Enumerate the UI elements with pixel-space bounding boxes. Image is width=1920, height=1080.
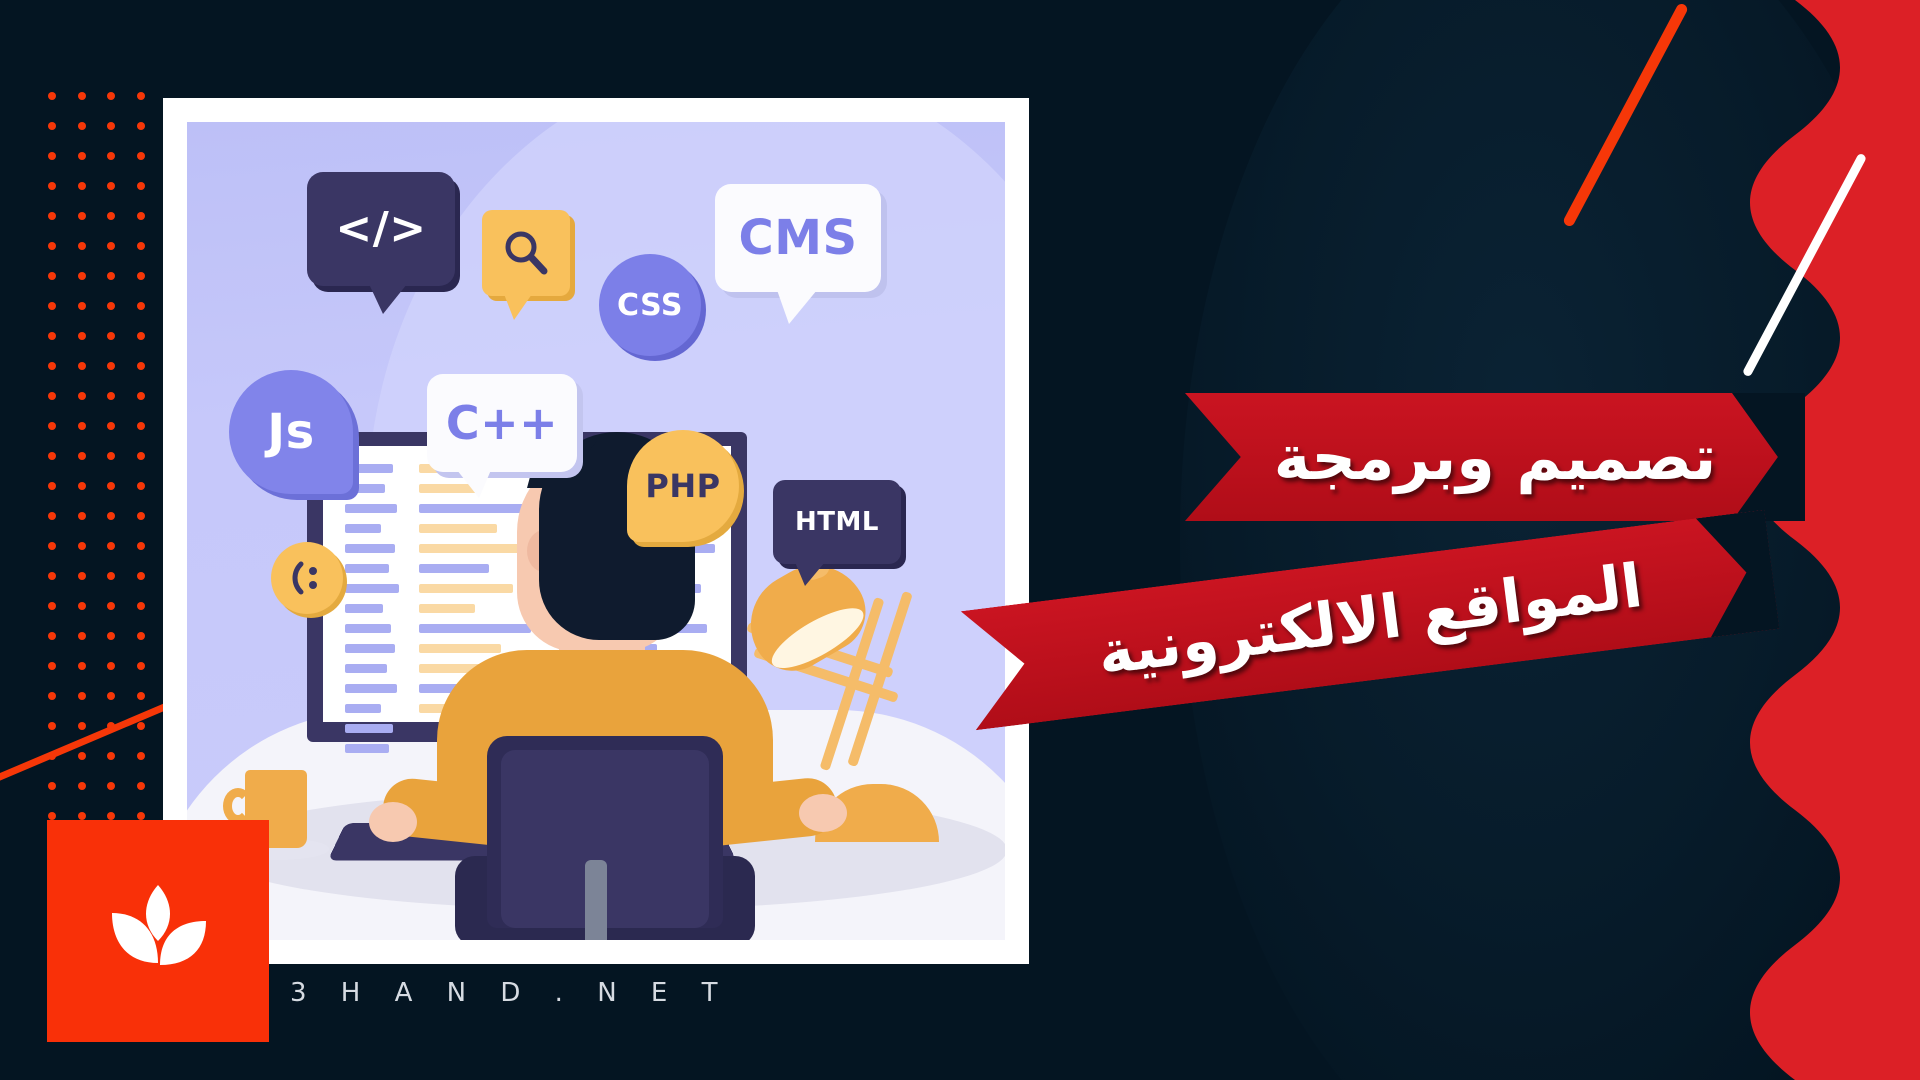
dot bbox=[78, 542, 86, 550]
dot bbox=[78, 572, 86, 580]
bubble-smiley bbox=[271, 542, 343, 614]
dot bbox=[137, 572, 145, 580]
dot bbox=[78, 122, 86, 130]
dot bbox=[107, 512, 115, 520]
dot bbox=[78, 332, 86, 340]
dot bbox=[137, 782, 145, 790]
dot bbox=[137, 752, 145, 760]
dot bbox=[137, 722, 145, 730]
dot bbox=[137, 422, 145, 430]
dot bbox=[137, 632, 145, 640]
dot bbox=[107, 242, 115, 250]
dot bbox=[78, 812, 86, 820]
dot bbox=[137, 452, 145, 460]
dot bbox=[78, 182, 86, 190]
cms-bubble-icon: CMS bbox=[738, 210, 857, 266]
dot bbox=[78, 92, 86, 100]
dot bbox=[107, 212, 115, 220]
dot bbox=[48, 572, 56, 580]
dot bbox=[78, 212, 86, 220]
dot bbox=[48, 392, 56, 400]
dot bbox=[48, 812, 56, 820]
dot bbox=[107, 572, 115, 580]
office-chair-post bbox=[585, 860, 607, 940]
code-lines-left bbox=[345, 464, 401, 764]
illustration-frame: </> CSS CMS Js C++ bbox=[163, 98, 1029, 964]
dot bbox=[107, 782, 115, 790]
dot bbox=[137, 212, 145, 220]
dot bbox=[48, 182, 56, 190]
dot bbox=[78, 392, 86, 400]
dot bbox=[137, 182, 145, 190]
javascript-badge-icon: Js bbox=[267, 404, 314, 460]
dot bbox=[137, 122, 145, 130]
dot bbox=[48, 122, 56, 130]
dot bbox=[107, 602, 115, 610]
brand-logo[interactable] bbox=[47, 820, 269, 1042]
bubble-html: HTML bbox=[773, 480, 901, 564]
bubble-code: </> bbox=[307, 172, 455, 286]
css-badge-icon: CSS bbox=[617, 288, 683, 323]
dot bbox=[48, 362, 56, 370]
dot bbox=[48, 482, 56, 490]
dot bbox=[48, 512, 56, 520]
smiley-face-icon bbox=[281, 552, 333, 604]
bubble-cms: CMS bbox=[715, 184, 881, 292]
magnifier-icon bbox=[500, 227, 552, 279]
headline-ribbon-top: تصميم وبرمجة bbox=[1185, 393, 1805, 521]
dot bbox=[78, 782, 86, 790]
dot bbox=[48, 242, 56, 250]
dot bbox=[107, 362, 115, 370]
dot bbox=[78, 302, 86, 310]
dot bbox=[78, 452, 86, 460]
dot bbox=[48, 422, 56, 430]
dot bbox=[78, 272, 86, 280]
bubble-tail-icon bbox=[795, 562, 825, 586]
html-bubble-icon: HTML bbox=[795, 507, 879, 537]
dot bbox=[137, 302, 145, 310]
dot bbox=[48, 662, 56, 670]
dot bbox=[107, 812, 115, 820]
dot bbox=[107, 692, 115, 700]
dot bbox=[137, 92, 145, 100]
dot bbox=[107, 662, 115, 670]
dot bbox=[137, 692, 145, 700]
dot bbox=[107, 752, 115, 760]
dot bbox=[78, 362, 86, 370]
mug-handle bbox=[223, 788, 253, 824]
dot bbox=[137, 512, 145, 520]
dot bbox=[48, 332, 56, 340]
three-leaf-plant-icon bbox=[94, 867, 222, 995]
dot-grid-decoration bbox=[48, 92, 166, 832]
dot bbox=[78, 482, 86, 490]
dot bbox=[107, 332, 115, 340]
bubble-tail-icon bbox=[504, 294, 532, 320]
dot bbox=[78, 662, 86, 670]
bubble-cpp: C++ bbox=[427, 374, 577, 472]
headline-line-1: تصميم وبرمجة bbox=[1274, 421, 1717, 494]
dot bbox=[78, 242, 86, 250]
dot bbox=[107, 92, 115, 100]
bubble-tail-icon bbox=[457, 470, 491, 498]
dot bbox=[107, 392, 115, 400]
dot bbox=[107, 302, 115, 310]
dot bbox=[107, 422, 115, 430]
promo-banner-canvas: </> CSS CMS Js C++ bbox=[0, 0, 1920, 1080]
bubble-tail-icon bbox=[369, 284, 407, 314]
code-tags-icon: </> bbox=[335, 207, 426, 251]
developer-illustration: </> CSS CMS Js C++ bbox=[187, 122, 1005, 940]
dot bbox=[48, 152, 56, 160]
dot bbox=[137, 602, 145, 610]
dot bbox=[48, 92, 56, 100]
dot bbox=[137, 482, 145, 490]
dot bbox=[107, 152, 115, 160]
dot bbox=[107, 122, 115, 130]
dot bbox=[137, 392, 145, 400]
dot bbox=[137, 272, 145, 280]
bubble-php: PHP bbox=[627, 430, 739, 542]
bubble-js: Js bbox=[229, 370, 353, 494]
dot bbox=[78, 752, 86, 760]
dot bbox=[137, 362, 145, 370]
bubble-css: CSS bbox=[599, 254, 701, 356]
dot bbox=[78, 602, 86, 610]
dot bbox=[48, 302, 56, 310]
dot bbox=[48, 212, 56, 220]
dot bbox=[78, 512, 86, 520]
dot bbox=[78, 152, 86, 160]
dot bbox=[78, 422, 86, 430]
dot bbox=[48, 722, 56, 730]
dot bbox=[107, 452, 115, 460]
site-watermark: 3 H A N D . N E T bbox=[290, 978, 731, 1008]
dot bbox=[48, 602, 56, 610]
dot bbox=[48, 782, 56, 790]
dot bbox=[78, 692, 86, 700]
dot bbox=[107, 482, 115, 490]
dot bbox=[107, 542, 115, 550]
bubble-tail-icon bbox=[777, 290, 817, 324]
dot bbox=[78, 632, 86, 640]
person-hand-right bbox=[799, 794, 847, 832]
dot bbox=[48, 452, 56, 460]
dot bbox=[137, 242, 145, 250]
dot bbox=[137, 542, 145, 550]
php-badge-icon: PHP bbox=[645, 467, 720, 505]
dot bbox=[137, 152, 145, 160]
dot bbox=[48, 692, 56, 700]
dot bbox=[48, 272, 56, 280]
cpp-bubble-icon: C++ bbox=[446, 396, 558, 450]
dot bbox=[137, 332, 145, 340]
dot bbox=[137, 812, 145, 820]
dot bbox=[48, 632, 56, 640]
ribbon-shape-top: تصميم وبرمجة bbox=[1185, 393, 1805, 521]
dot bbox=[107, 272, 115, 280]
person-hand-left bbox=[369, 802, 417, 842]
dot bbox=[48, 542, 56, 550]
bubble-search bbox=[482, 210, 570, 296]
dot bbox=[137, 662, 145, 670]
dot bbox=[107, 182, 115, 190]
dot bbox=[107, 632, 115, 640]
dot bbox=[78, 722, 86, 730]
